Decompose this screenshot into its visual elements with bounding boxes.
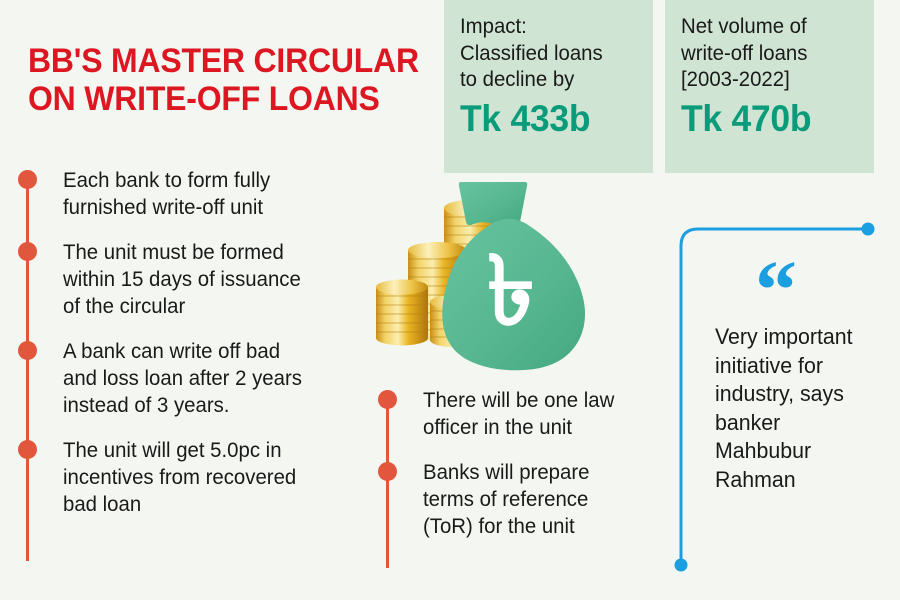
- stat-card-net-volume: Net volume of write-off loans [2003-2022…: [665, 0, 874, 173]
- list-item: The unit must be formed within 15 days o…: [18, 240, 368, 320]
- bullet-list-left: Each bank to form fully furnished write-…: [18, 168, 368, 537]
- bracket-dot-bottom: [675, 559, 688, 572]
- list-item: Each bank to form fully furnished write-…: [18, 168, 368, 221]
- bullet-dot-icon: [18, 341, 37, 360]
- bullet-dot-icon: [18, 170, 37, 189]
- bullet-list-middle: There will be one law officer in the uni…: [378, 388, 668, 559]
- bullet-dot-icon: [18, 242, 37, 261]
- infographic-canvas: BB'S MASTER CIRCULAR ON WRITE-OFF LOANS …: [0, 0, 900, 600]
- money-bag-illustration: ৳: [368, 172, 633, 384]
- list-item: The unit will get 5.0pc in incentives fr…: [18, 438, 368, 518]
- stat-card-impact: Impact: Classified loans to decline by T…: [444, 0, 653, 173]
- list-item-text: A bank can write off bad and loss loan a…: [63, 339, 359, 419]
- page-title: BB'S MASTER CIRCULAR ON WRITE-OFF LOANS: [28, 42, 404, 119]
- list-item-text: Each bank to form fully furnished write-…: [63, 168, 359, 221]
- page-title-line-2: ON WRITE-OFF LOANS: [28, 80, 404, 118]
- list-item: Banks will prepare terms of reference (T…: [378, 460, 668, 540]
- stat-card-impact-value: Tk 433b: [460, 100, 630, 139]
- stat-card-net-volume-label: Net volume of write-off loans [2003-2022…: [681, 14, 853, 94]
- bullet-dot-icon: [378, 462, 397, 481]
- taka-currency-symbol: ৳: [487, 238, 535, 345]
- list-item-text: The unit must be formed within 15 days o…: [63, 240, 359, 320]
- list-item: There will be one law officer in the uni…: [378, 388, 668, 441]
- quote-mark-icon: “: [755, 266, 795, 316]
- quote-text: Very important initiative for industry, …: [715, 323, 890, 495]
- stat-card-impact-label: Impact: Classified loans to decline by: [460, 14, 632, 94]
- stat-card-net-volume-value: Tk 470b: [681, 100, 851, 139]
- page-title-line-1: BB'S MASTER CIRCULAR: [28, 42, 404, 80]
- list-item-text: There will be one law officer in the uni…: [423, 388, 661, 441]
- bracket-dot-top: [862, 223, 875, 236]
- list-item-text: Banks will prepare terms of reference (T…: [423, 460, 661, 540]
- coin-stack-short-left: [376, 280, 428, 346]
- bullet-dot-icon: [378, 390, 397, 409]
- bullet-dot-icon: [18, 440, 37, 459]
- money-bag-coins-svg: ৳: [368, 172, 633, 384]
- list-item-text: The unit will get 5.0pc in incentives fr…: [63, 438, 359, 518]
- list-item: A bank can write off bad and loss loan a…: [18, 339, 368, 419]
- quote-callout: “ Very important initiative for industry…: [660, 218, 892, 578]
